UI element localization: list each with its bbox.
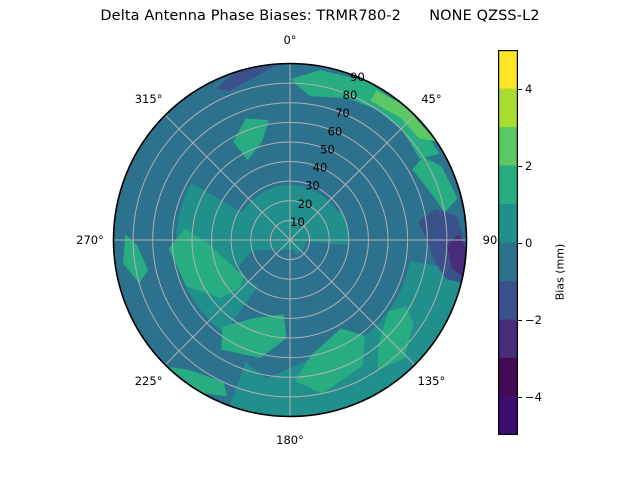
- colorbar-tick-mark: [518, 397, 522, 398]
- colorbar-tick-label: −4: [525, 390, 542, 404]
- colorbar-tick-label: 0: [525, 236, 532, 250]
- radial-tick-label: 70: [335, 106, 350, 120]
- radial-tick-label: 30: [305, 179, 320, 193]
- colorbar-swatch: [498, 281, 518, 320]
- angular-tick-label: 315°: [135, 92, 163, 106]
- colorbar-swatch: [498, 320, 518, 359]
- radial-tick-label: 60: [328, 124, 343, 138]
- radial-tick-label: 80: [343, 88, 358, 102]
- colorbar-gradient: [498, 50, 518, 435]
- radial-tick-label: 20: [298, 197, 313, 211]
- colorbar-swatch: [498, 204, 518, 243]
- polar-plot: 102030405060708090: [112, 62, 468, 418]
- colorbar-swatch: [498, 397, 518, 436]
- polar-axes: 102030405060708090: [112, 62, 468, 418]
- radial-tick-label: 50: [320, 142, 335, 156]
- angular-tick-label: 135°: [418, 374, 446, 388]
- colorbar-axis-label: Bias (mm): [554, 244, 567, 301]
- colorbar-tick-label: 2: [525, 159, 532, 173]
- figure-canvas: Delta Antenna Phase Biases: TRMR780-2 NO…: [0, 0, 640, 480]
- colorbar-swatch: [498, 89, 518, 128]
- radial-tick-label: 90: [350, 70, 365, 84]
- colorbar-swatch: [498, 127, 518, 166]
- angular-tick-label: 0°: [283, 33, 296, 47]
- angular-tick-label: 45°: [421, 92, 441, 106]
- colorbar-swatch: [498, 243, 518, 282]
- angular-tick-label: 225°: [135, 374, 163, 388]
- colorbar-tick-mark: [518, 320, 522, 321]
- angular-tick-label: 90: [483, 233, 498, 247]
- colorbar: [498, 50, 518, 435]
- colorbar-swatch: [498, 50, 518, 89]
- radial-tick-label: 40: [313, 161, 328, 175]
- colorbar-tick-mark: [518, 166, 522, 167]
- angular-tick-label: 270°: [76, 233, 104, 247]
- chart-title: Delta Antenna Phase Biases: TRMR780-2 NO…: [0, 8, 640, 24]
- colorbar-tick-mark: [518, 243, 522, 244]
- colorbar-tick-mark: [518, 89, 522, 90]
- colorbar-tick-label: −2: [525, 313, 542, 327]
- polar-gridlines: [114, 64, 467, 417]
- angular-tick-label: 180°: [276, 433, 304, 447]
- colorbar-swatch: [498, 166, 518, 205]
- colorbar-swatch: [498, 358, 518, 397]
- radial-tick-label: 10: [290, 215, 305, 229]
- colorbar-tick-label: 4: [525, 82, 532, 96]
